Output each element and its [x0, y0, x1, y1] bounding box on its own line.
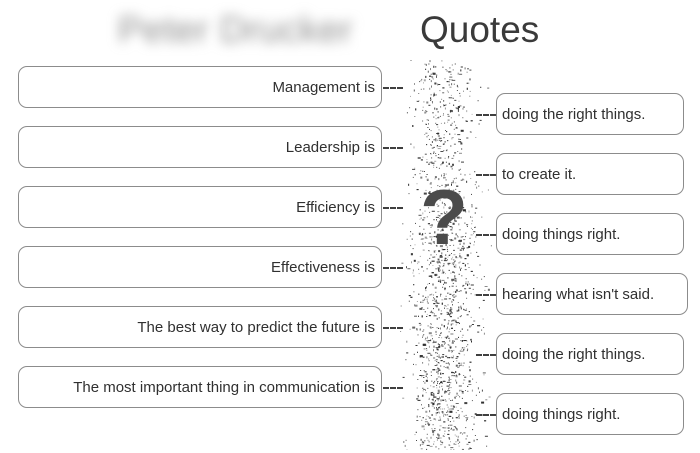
prompt-box[interactable]: Management is [18, 66, 382, 108]
prompt-label: Effectiveness is [271, 259, 375, 276]
question-mark-icon: ? [392, 178, 496, 256]
prompt-box[interactable]: Leadership is [18, 126, 382, 168]
prompt-box[interactable]: Effectiveness is [18, 246, 382, 288]
answer-box[interactable]: doing the right things. [496, 333, 684, 375]
answer-label: doing the right things. [502, 346, 645, 363]
blurred-author-title: Peter Drucker [118, 8, 353, 52]
answer-label: hearing what isn't said. [502, 286, 654, 303]
answer-label: doing things right. [502, 406, 620, 423]
prompt-label: Leadership is [286, 139, 375, 156]
prompt-box[interactable]: The best way to predict the future is [18, 306, 382, 348]
answer-label: doing things right. [502, 226, 620, 243]
prompt-label: Management is [272, 79, 375, 96]
prompt-label: The best way to predict the future is [137, 319, 375, 336]
prompt-label: The most important thing in communicatio… [73, 379, 375, 396]
prompt-box[interactable]: The most important thing in communicatio… [18, 366, 382, 408]
answer-label: to create it. [502, 166, 576, 183]
answer-box[interactable]: doing the right things. [496, 93, 684, 135]
answer-box[interactable]: doing things right. [496, 393, 684, 435]
answer-box[interactable]: hearing what isn't said. [496, 273, 688, 315]
answer-box[interactable]: doing things right. [496, 213, 684, 255]
quote-matching-diagram: Peter Drucker Quotes Management is Leade… [0, 0, 700, 453]
title-word-quotes: Quotes [420, 8, 539, 52]
prompt-box[interactable]: Efficiency is [18, 186, 382, 228]
page-title: Peter Drucker Quotes [0, 2, 700, 58]
prompt-label: Efficiency is [296, 199, 375, 216]
answer-box[interactable]: to create it. [496, 153, 684, 195]
answer-label: doing the right things. [502, 106, 645, 123]
